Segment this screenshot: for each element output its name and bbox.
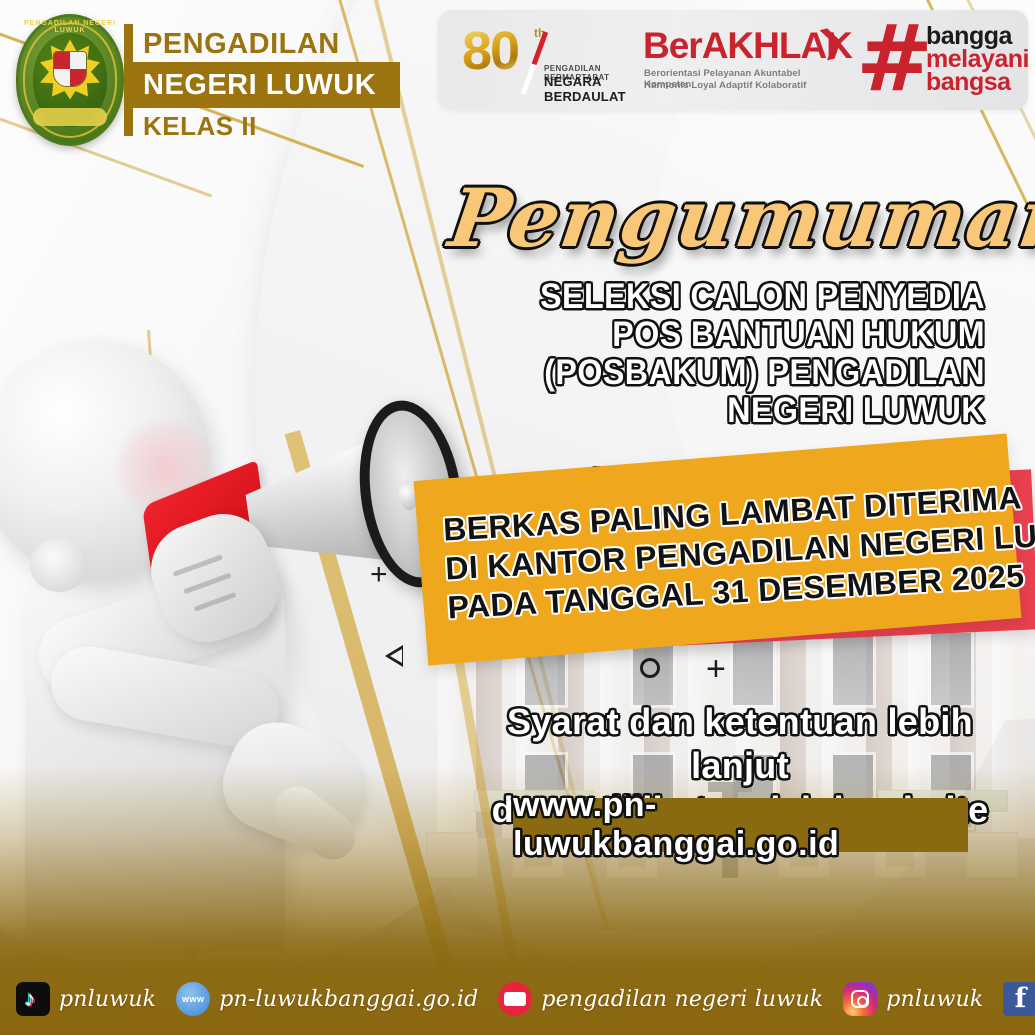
social-label: pn-luwukbanggai.go.id (219, 987, 478, 1012)
website-url: www.pn-luwukbanggai.go.id (513, 786, 968, 864)
court-name-line2: NEGERI LUWUK (133, 62, 400, 108)
website-icon: www (176, 982, 210, 1016)
social-label: pnluwuk (886, 987, 983, 1012)
social-item-tiktok[interactable]: ♪ pnluwuk (16, 982, 156, 1016)
hashtag-icon: # (856, 24, 930, 96)
anniversary-number: 80 (462, 24, 518, 78)
instagram-icon (843, 982, 877, 1016)
social-item-facebook[interactable]: f pnluwuk (1003, 982, 1035, 1016)
subtitle-line: SELEKSI CALON PENYEDIA (470, 278, 985, 316)
social-item-instagram[interactable]: pnluwuk (843, 982, 983, 1016)
social-item-website[interactable]: www pn-luwukbanggai.go.id (176, 982, 478, 1016)
bangga-line3: bangsa (926, 70, 1011, 95)
anniversary-80th-logo: 80 th PENGADILAN BERMARTABAT NEGARA BERD… (462, 24, 652, 96)
youtube-icon (498, 982, 532, 1016)
subtitle-line: (POSBAKUM) PENGADILAN (470, 354, 985, 392)
berakhlak-subtitle-line2: Harmonis Loyal Adaptif Kolaboratif (644, 80, 806, 91)
facebook-icon: f (1003, 982, 1035, 1016)
header-accent-bar (124, 24, 133, 136)
court-seal-logo: PENGADILAN NEGERI LUWUK (16, 14, 124, 146)
berakhlak-logo: BerAKHLAK ❯ Berorientasi Pelayanan Akunt… (643, 26, 843, 96)
triangle-decoration-icon (385, 645, 403, 667)
social-label: pnluwuk (59, 987, 156, 1012)
terms-note-line: Syarat dan ketentuan lebih lanjut (455, 700, 1025, 788)
facebook-glyph: f (1015, 982, 1027, 1016)
partner-logo-strip: 80 th PENGADILAN BERMARTABAT NEGARA BERD… (438, 10, 1028, 110)
court-class-line: KELAS II (133, 108, 257, 144)
social-item-youtube[interactable]: pengadilan negeri luwuk (498, 982, 823, 1016)
court-name-line1: PENGADILAN (133, 24, 340, 64)
plus-decoration-icon: + (370, 560, 388, 590)
social-media-footer: ♪ pnluwuk www pn-luwukbanggai.go.id peng… (0, 963, 1035, 1035)
anniversary-tagline-bottom: NEGARA BERDAULAT (544, 74, 652, 104)
subtitle-line: POS BANTUAN HUKUM (470, 316, 985, 354)
website-url-box[interactable]: www.pn-luwukbanggai.go.id (513, 798, 968, 852)
court-identity-header: PENGADILAN NEGERI LUWUK PENGADILAN NEGER… (0, 0, 435, 160)
page-title: Pengumuman (443, 168, 1028, 273)
announcement-subtitle: SELEKSI CALON PENYEDIA POS BANTUAN HUKUM… (470, 278, 985, 430)
social-label: pengadilan negeri luwuk (541, 987, 823, 1012)
announcement-poster: PENGADILAN NEGERI LUWUK PENGADILAN NEGER… (0, 0, 1035, 1035)
bangga-melayani-bangsa-logo: # bangga melayani bangsa (856, 20, 1021, 100)
deadline-banner: BERKAS PALING LAMBAT DITERIMA DI KANTOR … (415, 455, 1035, 670)
www-text: www (182, 994, 205, 1004)
subtitle-line: NEGERI LUWUK (470, 392, 985, 430)
tiktok-icon: ♪ (16, 982, 50, 1016)
